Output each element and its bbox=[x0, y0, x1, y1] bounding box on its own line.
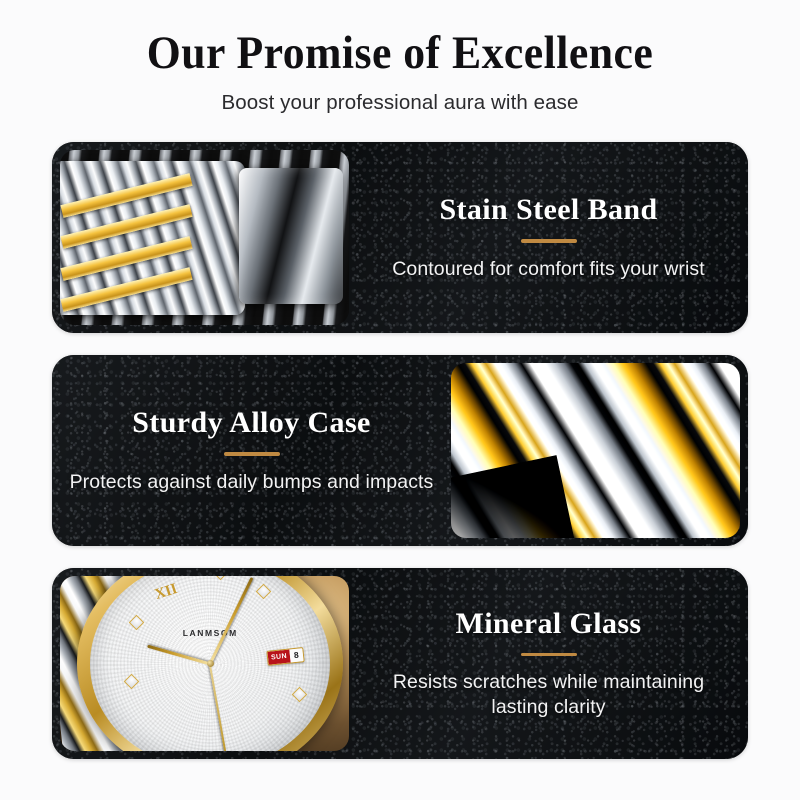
card-description: Contoured for comfort fits your wrist bbox=[365, 257, 732, 282]
dial-roman-numeral: XII bbox=[153, 581, 180, 604]
card-heading: Sturdy Alloy Case bbox=[68, 406, 435, 439]
product-image-alloy-links bbox=[451, 363, 740, 538]
card-divider bbox=[521, 239, 577, 243]
hour-hand bbox=[148, 644, 211, 665]
card-description: Resists scratches while maintaining last… bbox=[365, 670, 732, 720]
diamond-marker-icon bbox=[213, 576, 229, 580]
page-title: Our Promise of Excellence bbox=[28, 28, 772, 79]
product-image-watch-dial: XII LANMSOM SUN 8 RESIST bbox=[60, 576, 349, 751]
diamond-marker-icon bbox=[256, 584, 272, 600]
dial-center-pin bbox=[207, 660, 214, 667]
page-subtitle: Boost your professional aura with ease bbox=[0, 91, 800, 115]
feature-card-stain-steel-band[interactable]: Stain Steel Band Contoured for comfort f… bbox=[52, 142, 748, 333]
card-heading: Stain Steel Band bbox=[365, 193, 732, 226]
page-header: Our Promise of Excellence Boost your pro… bbox=[0, 0, 800, 115]
watch-dial-photo: XII LANMSOM SUN 8 RESIST bbox=[60, 576, 349, 751]
card-body: Mineral Glass Resists scratches while ma… bbox=[349, 607, 748, 720]
steel-band-photo bbox=[60, 150, 349, 325]
minute-hand bbox=[209, 577, 254, 665]
card-divider bbox=[224, 452, 280, 456]
band-buckle-shape bbox=[239, 168, 343, 305]
feature-card-sturdy-alloy-case[interactable]: Sturdy Alloy Case Protects against daily… bbox=[52, 355, 748, 546]
diamond-marker-icon bbox=[124, 674, 140, 690]
photo-corner-shadow bbox=[451, 455, 574, 538]
alloy-links-photo bbox=[451, 363, 740, 538]
day-value: SUN bbox=[268, 649, 291, 664]
feature-card-mineral-glass[interactable]: XII LANMSOM SUN 8 RESIST Mineral Glass R… bbox=[52, 568, 748, 759]
day-date-window: SUN 8 bbox=[266, 647, 304, 665]
card-description: Protects against daily bumps and impacts bbox=[68, 470, 435, 495]
date-value: 8 bbox=[289, 648, 303, 662]
dial-face: XII LANMSOM SUN 8 RESIST bbox=[90, 576, 330, 751]
feature-card-list: Stain Steel Band Contoured for comfort f… bbox=[52, 142, 748, 781]
product-image-steel-band bbox=[60, 150, 349, 325]
card-body: Sturdy Alloy Case Protects against daily… bbox=[52, 406, 451, 494]
card-heading: Mineral Glass bbox=[365, 607, 732, 640]
card-divider bbox=[521, 653, 577, 657]
diamond-marker-icon bbox=[292, 686, 308, 702]
second-hand bbox=[209, 663, 228, 751]
dial-brand-name: LANMSOM bbox=[183, 628, 238, 638]
card-body: Stain Steel Band Contoured for comfort f… bbox=[349, 193, 748, 281]
diamond-marker-icon bbox=[129, 615, 145, 631]
